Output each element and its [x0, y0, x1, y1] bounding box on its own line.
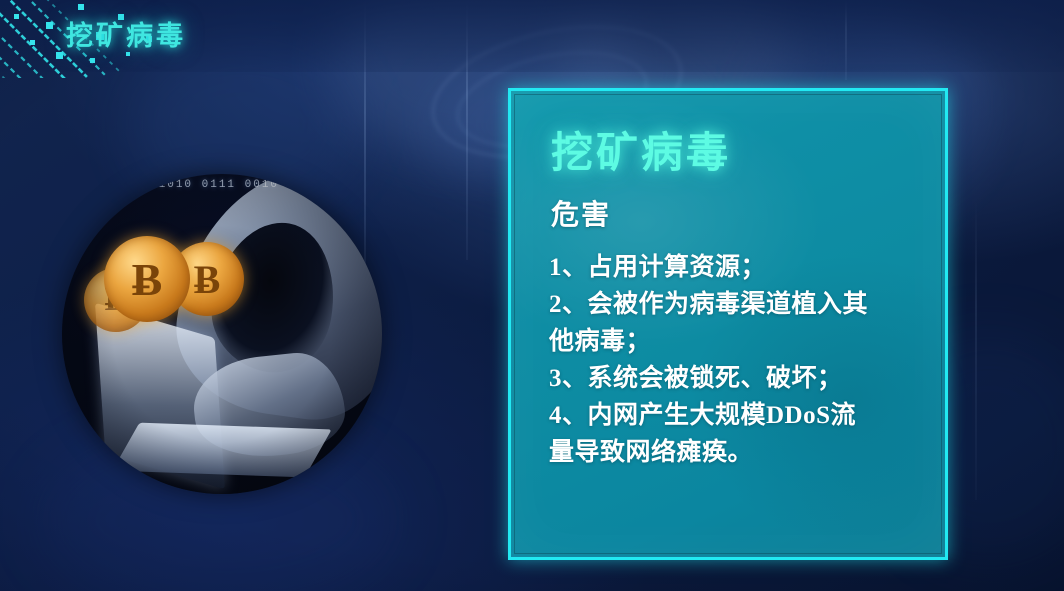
harm-list: 1、占用计算资源； 2、会被作为病毒渠道植入其 他病毒； 3、系统会被锁死、破坏…: [549, 249, 917, 471]
list-item: 量导致网络瘫痪。: [549, 434, 917, 471]
content-panel: 挖矿病毒 危害 1、占用计算资源； 2、会被作为病毒渠道植入其 他病毒； 3、系…: [508, 88, 948, 560]
illustration-vignette: [62, 174, 382, 494]
list-item: 2、会被作为病毒渠道植入其: [549, 286, 917, 323]
page-title: 挖矿病毒: [66, 14, 186, 53]
panel-subtitle: 危害: [551, 193, 611, 233]
bitcoin-coin-icon: Ƀ: [104, 236, 190, 322]
panel-title: 挖矿病毒: [551, 119, 731, 180]
illustration-backdrop: Ƀ Ƀ Ƀ 1001 10001 1010 0111 0010 10011 10…: [62, 174, 382, 494]
slide-root: 挖矿病毒 Ƀ Ƀ Ƀ 1001 10001 1010 0111 0010 100…: [0, 0, 1064, 591]
hacker-bitcoin-circle-image: Ƀ Ƀ Ƀ 1001 10001 1010 0111 0010 10011 10…: [62, 174, 382, 494]
background-vertical-line: [975, 200, 977, 500]
list-item: 他病毒；: [549, 323, 917, 360]
list-item: 4、内网产生大规模DDoS流: [549, 397, 917, 434]
list-item: 1、占用计算资源；: [549, 249, 917, 286]
list-item: 3、系统会被锁死、破坏；: [549, 360, 917, 397]
